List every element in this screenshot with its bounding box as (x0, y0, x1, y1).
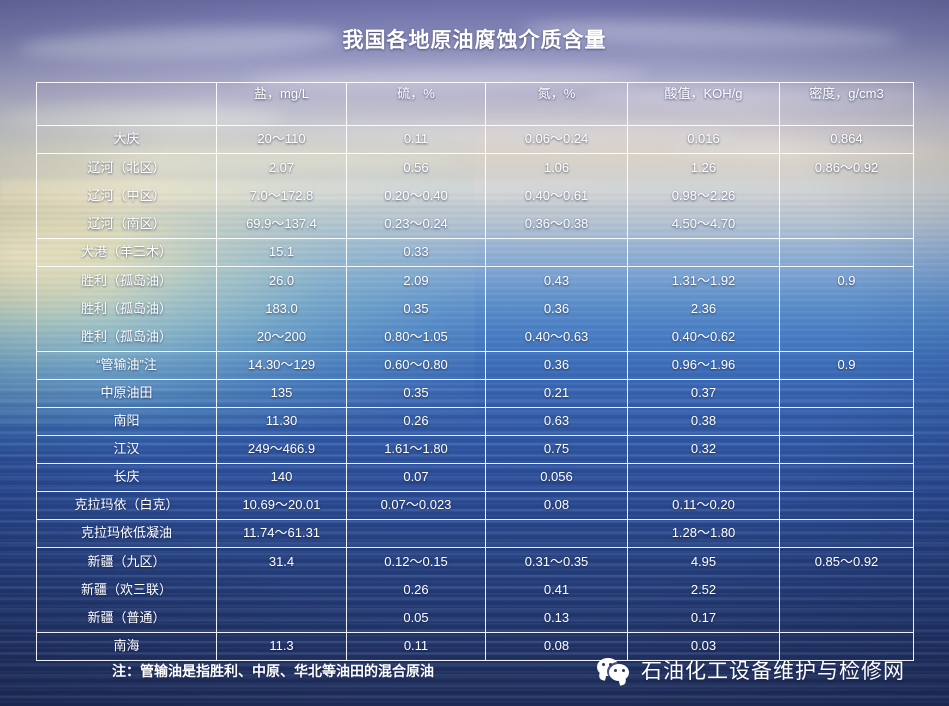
table-cell-value: 0.60～0.80 (347, 352, 486, 380)
table-cell-group: 0.560.20～0.400.23～0.24 (347, 154, 486, 239)
table-cell-value (780, 295, 913, 323)
table-cell-group: 0.86～0.92 (780, 154, 914, 239)
table-cell-value: 20～110 (217, 126, 347, 154)
table-row-name: 克拉玛依低凝油 (37, 520, 217, 548)
table-cell-value: 0.016 (628, 126, 780, 154)
table-cell-label: 胜利（孤岛油） (37, 323, 216, 351)
table-cell-label: 新疆（欢三联） (37, 576, 216, 604)
watermark: 石油化工设备维护与检修网 (597, 655, 905, 685)
table-row-name: 南海 (37, 633, 217, 661)
watermark-text: 石油化工设备维护与检修网 (641, 655, 905, 685)
table-cell-value: 2.09 (347, 267, 485, 295)
table-cell-value: 0.56 (347, 154, 485, 182)
table-cell-value: 2.36 (628, 295, 779, 323)
table-cell-value (780, 182, 913, 210)
table-cell-value: 0.864 (780, 126, 914, 154)
table-cell-value (780, 408, 914, 436)
table-cell-value: 1.31～1.92 (628, 267, 779, 295)
table-cell-label: 新疆（普通） (37, 604, 216, 632)
table-cell-value: 11.30 (217, 408, 347, 436)
table-cell-value: 10.69～20.01 (217, 492, 347, 520)
table-row: “管输油”注14.30～1290.60～0.800.360.96～1.960.9 (37, 352, 914, 380)
table-row-name: 中原油田 (37, 380, 217, 408)
table-row-group-name: 新疆（九区）新疆（欢三联）新疆（普通） (37, 548, 217, 633)
table-cell-value: 249～466.9 (217, 436, 347, 464)
table-cell-value: 0.32 (628, 436, 780, 464)
table-cell-value: 0.23～0.24 (347, 210, 485, 238)
table-cell-value: 0.9 (780, 267, 913, 295)
table-row: 胜利（孤岛油）胜利（孤岛油）胜利（孤岛油）26.0183.020～2002.09… (37, 267, 914, 352)
table-row-name: “管输油”注 (37, 352, 217, 380)
table-header-blank (37, 83, 217, 126)
table-cell-value (486, 239, 628, 267)
table-cell-value (780, 380, 914, 408)
table-cell-value: 0.43 (486, 267, 627, 295)
table-cell-group: 0.12～0.150.260.05 (347, 548, 486, 633)
table-cell-value (780, 464, 914, 492)
table-cell-group: 0.85～0.92 (780, 548, 914, 633)
table-cell-value: 2.07 (217, 154, 346, 182)
table-cell-value (780, 604, 913, 632)
table-row: 辽河（北区）辽河（中区）辽河（南区）2.077.0～172.869.9～137.… (37, 154, 914, 239)
table-cell-value: 0.11 (347, 126, 486, 154)
table-cell-value: 0.31～0.35 (486, 548, 627, 576)
table-cell-value: 0.056 (486, 464, 628, 492)
table-cell-value: 1.61～1.80 (347, 436, 486, 464)
table-header-cell: 硫，% (347, 83, 486, 126)
table-cell-value: 4.50～4.70 (628, 210, 779, 238)
table-cell-value: 31.4 (217, 548, 346, 576)
table-cell-value: 0.98～2.26 (628, 182, 779, 210)
table-cell-value: 0.75 (486, 436, 628, 464)
table-cell-value (780, 323, 913, 351)
table-row: 长庆1400.070.056 (37, 464, 914, 492)
table-cell-value: 0.26 (347, 408, 486, 436)
table-cell-value (628, 464, 780, 492)
table-row: 中原油田1350.350.210.37 (37, 380, 914, 408)
table-row-group-name: 胜利（孤岛油）胜利（孤岛油）胜利（孤岛油） (37, 267, 217, 352)
table-cell-value: 14.30～129 (217, 352, 347, 380)
table-cell-value: 0.07～0.023 (347, 492, 486, 520)
table-cell-value: 4.95 (628, 548, 779, 576)
page-title: 我国各地原油腐蚀介质含量 (0, 24, 949, 54)
table-cell-value: 135 (217, 380, 347, 408)
table-row-name: 克拉玛依（白克） (37, 492, 217, 520)
table-cell-value: 2.52 (628, 576, 779, 604)
table-cell-value: 7.0～172.8 (217, 182, 346, 210)
table-cell-value: 20～200 (217, 323, 346, 351)
table-cell-value: 0.40～0.63 (486, 323, 627, 351)
table-row: 大庆20～1100.110.06～0.240.0160.864 (37, 126, 914, 154)
table-cell-value: 0.05 (347, 604, 485, 632)
table-cell-value (780, 576, 913, 604)
table-cell-value: 0.13 (486, 604, 627, 632)
table-cell-label: 辽河（中区） (37, 182, 216, 210)
table-cell-value: 0.17 (628, 604, 779, 632)
table-cell-value: 0.21 (486, 380, 628, 408)
table-cell-value: 183.0 (217, 295, 346, 323)
table-row-name: 大港（羊三木） (37, 239, 217, 267)
table-cell-group: 1.060.40～0.610.36～0.38 (486, 154, 628, 239)
table-cell-label: 新疆（九区） (37, 548, 216, 576)
wechat-icon (597, 656, 631, 684)
table-cell-group: 2.077.0～172.869.9～137.4 (217, 154, 347, 239)
table-cell-group: 1.260.98～2.264.50～4.70 (628, 154, 780, 239)
table-header-cell: 酸值，KOH/g (628, 83, 780, 126)
table-cell-value: 26.0 (217, 267, 346, 295)
table-cell-value (780, 520, 914, 548)
footnote: 注：管输油是指胜利、中原、华北等油田的混合原油 (112, 661, 434, 681)
table-cell-value: 69.9～137.4 (217, 210, 346, 238)
table-cell-value: 0.26 (347, 576, 485, 604)
table-cell-value (217, 604, 346, 632)
table-cell-group: 0.31～0.350.410.13 (486, 548, 628, 633)
table-header-cell: 氮，% (486, 83, 628, 126)
table-cell-label: 辽河（北区） (37, 154, 216, 182)
table-cell-value: 0.40～0.62 (628, 323, 779, 351)
table-cell-value: 0.80～1.05 (347, 323, 485, 351)
table-header-cell: 盐，mg/L (217, 83, 347, 126)
table-cell-value: 0.36～0.38 (486, 210, 627, 238)
table-cell-value (217, 576, 346, 604)
table-cell-group: 1.31～1.922.360.40～0.62 (628, 267, 780, 352)
table-cell-value: 11.3 (217, 633, 347, 661)
table-cell-value: 1.06 (486, 154, 627, 182)
table-cell-value: 0.12～0.15 (347, 548, 485, 576)
table-cell-value: 0.11 (347, 633, 486, 661)
table-cell-value (780, 210, 913, 238)
table-row: 克拉玛依低凝油11.74～61.311.28～1.80 (37, 520, 914, 548)
table-cell-value (780, 436, 914, 464)
table-cell-value: 0.06～0.24 (486, 126, 628, 154)
table-row-name: 大庆 (37, 126, 217, 154)
table-cell-value: 0.07 (347, 464, 486, 492)
table-cell-value: 0.35 (347, 380, 486, 408)
table-header-cell: 密度，g/cm3 (780, 83, 914, 126)
table-cell-group: 0.9 (780, 267, 914, 352)
table-header-row: 盐，mg/L硫，%氮，%酸值，KOH/g密度，g/cm3 (37, 83, 914, 126)
table-cell-value: 0.11～0.20 (628, 492, 780, 520)
table-cell-value: 11.74～61.31 (217, 520, 347, 548)
table-cell-value (347, 520, 486, 548)
table-cell-value: 0.33 (347, 239, 486, 267)
table-cell-label: 胜利（孤岛油） (37, 295, 216, 323)
table-cell-value: 140 (217, 464, 347, 492)
table-cell-value: 0.36 (486, 352, 628, 380)
table-cell-value: 0.41 (486, 576, 627, 604)
table-cell-value (780, 239, 914, 267)
table-cell-value: 0.36 (486, 295, 627, 323)
table-cell-value: 0.35 (347, 295, 485, 323)
table-cell-value: 0.9 (780, 352, 914, 380)
table-cell-value: 0.85～0.92 (780, 548, 913, 576)
table-cell-group: 4.952.520.17 (628, 548, 780, 633)
crude-oil-corrosion-table-wrap: 盐，mg/L硫，%氮，%酸值，KOH/g密度，g/cm3大庆20～1100.11… (36, 82, 913, 661)
table-row: 大港（羊三木）15.10.33 (37, 239, 914, 267)
table-row-name: 江汉 (37, 436, 217, 464)
table-cell-value: 0.86～0.92 (780, 154, 913, 182)
table-cell-value: 0.96～1.96 (628, 352, 780, 380)
table-cell-value: 0.38 (628, 408, 780, 436)
table-cell-value: 0.63 (486, 408, 628, 436)
table-cell-value: 0.37 (628, 380, 780, 408)
table-row: 新疆（九区）新疆（欢三联）新疆（普通）31.40.12～0.150.260.05… (37, 548, 914, 633)
table-row-name: 南阳 (37, 408, 217, 436)
table-cell-label: 胜利（孤岛油） (37, 267, 216, 295)
table-row: 江汉249～466.91.61～1.800.750.32 (37, 436, 914, 464)
table-cell-label: 辽河（南区） (37, 210, 216, 238)
table-cell-value (628, 239, 780, 267)
table-cell-value (486, 520, 628, 548)
table-row: 南阳11.300.260.630.38 (37, 408, 914, 436)
table-cell-group: 0.430.360.40～0.63 (486, 267, 628, 352)
table-row-group-name: 辽河（北区）辽河（中区）辽河（南区） (37, 154, 217, 239)
table-cell-group: 2.090.350.80～1.05 (347, 267, 486, 352)
table-cell-value: 1.26 (628, 154, 779, 182)
crude-oil-corrosion-table: 盐，mg/L硫，%氮，%酸值，KOH/g密度，g/cm3大庆20～1100.11… (36, 82, 914, 661)
table-cell-value: 0.40～0.61 (486, 182, 627, 210)
table-cell-value: 15.1 (217, 239, 347, 267)
table-cell-value: 1.28～1.80 (628, 520, 780, 548)
table-cell-group: 26.0183.020～200 (217, 267, 347, 352)
table-cell-group: 31.4 (217, 548, 347, 633)
table-cell-value (780, 492, 914, 520)
table-cell-value: 0.08 (486, 492, 628, 520)
table-row-name: 长庆 (37, 464, 217, 492)
table-row: 克拉玛依（白克）10.69～20.010.07～0.0230.080.11～0.… (37, 492, 914, 520)
table-cell-value: 0.20～0.40 (347, 182, 485, 210)
